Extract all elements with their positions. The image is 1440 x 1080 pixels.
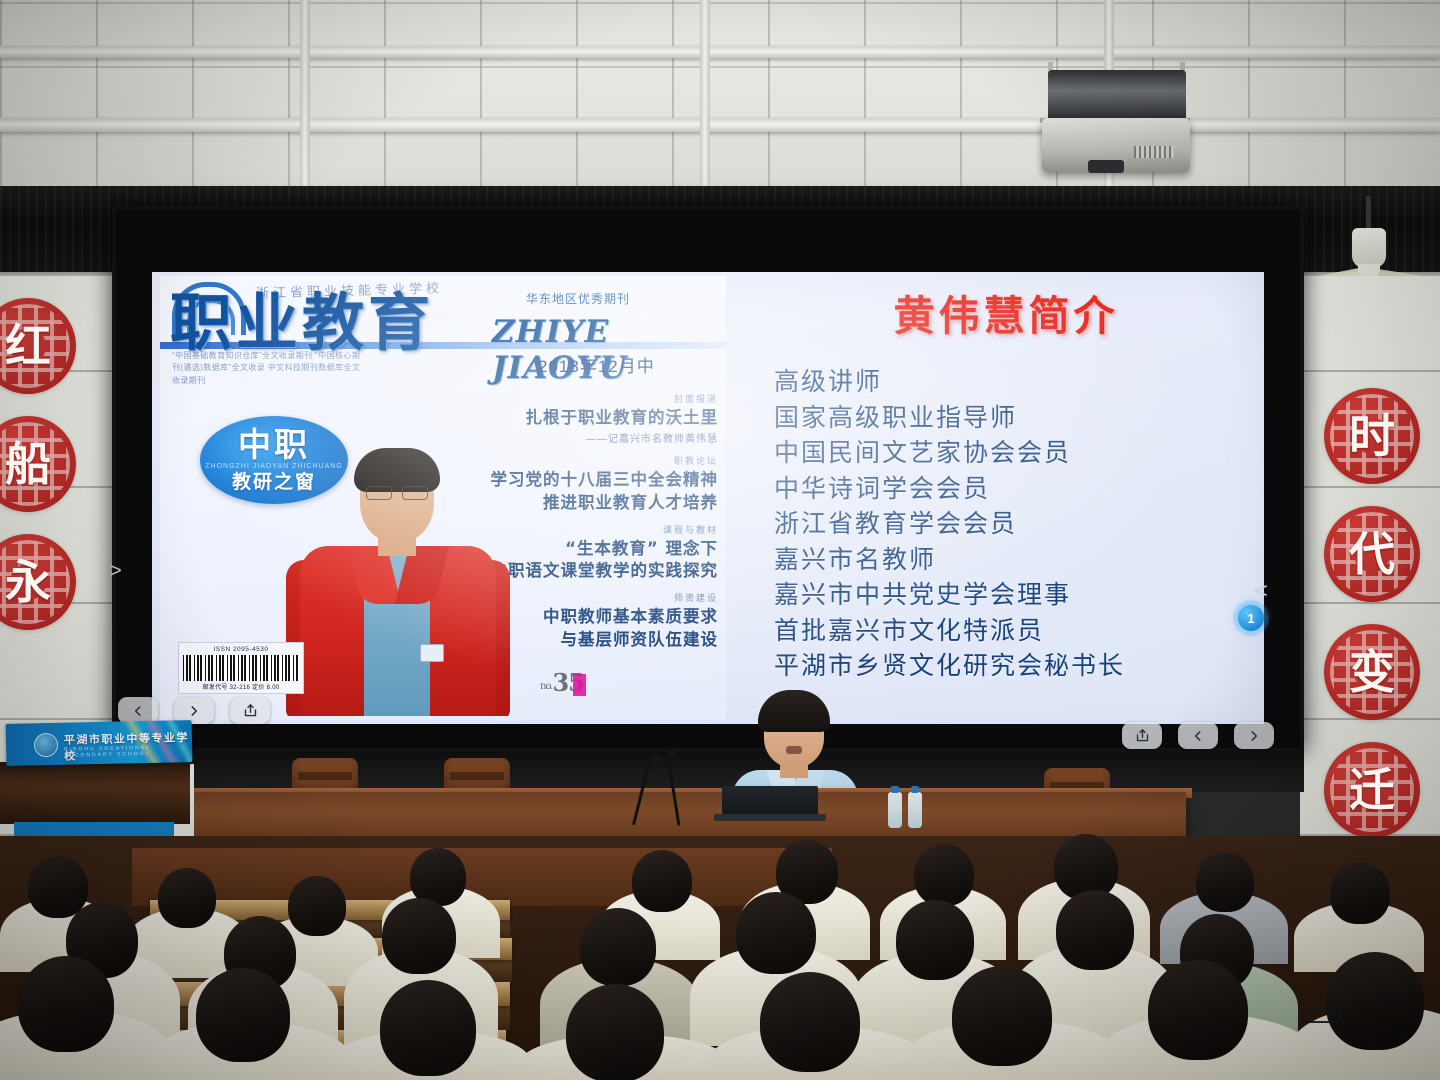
audience-head xyxy=(1330,862,1390,924)
medallion-character: 变 xyxy=(1349,649,1395,695)
audience-head xyxy=(380,980,476,1076)
ceiling-divider xyxy=(700,0,710,196)
water-bottle xyxy=(888,792,902,828)
ceiling-divider xyxy=(300,0,310,196)
medallion-character: 时 xyxy=(1349,413,1395,459)
magazine-article: 封面报道 扎根于职业教育的沃土里 ——记嘉兴市名教师黄伟慧 xyxy=(432,392,718,445)
projected-slide: 浙江省职业技能专业学校 职业教育 ZHIYE JIAOYU 华东地区优秀期刊 2… xyxy=(152,272,1264,724)
portrait-name-badge xyxy=(420,644,444,662)
slide-title: 黄伟慧简介 xyxy=(760,282,1252,342)
audience-head xyxy=(1148,960,1248,1060)
wall-medallion-bian: 变 xyxy=(1324,624,1420,720)
audience-head xyxy=(914,844,974,906)
magazine-cover-image: 浙江省职业技能专业学校 职业教育 ZHIYE JIAOYU 华东地区优秀期刊 2… xyxy=(160,276,726,720)
next-page-button[interactable] xyxy=(1234,722,1274,749)
share-icon[interactable] xyxy=(230,697,270,724)
prev-page-button[interactable] xyxy=(1178,722,1218,749)
audience-head xyxy=(288,876,346,936)
projector-vent xyxy=(1134,146,1174,158)
audience-head xyxy=(736,892,816,974)
bio-item: 平湖市乡贤文化研究会秘书长 xyxy=(774,648,1252,684)
wall-medallion-qian: 迁 xyxy=(1324,742,1420,838)
magazine-title-cn: 职业教育 xyxy=(170,292,510,354)
audience-head xyxy=(18,956,114,1052)
fan-downrod xyxy=(1366,196,1371,232)
portrait-eyes xyxy=(366,486,428,498)
projector-top-plate xyxy=(1048,70,1186,122)
lecture-hall-photo: 红 船 永 时 代 变 迁 浙江省职业技能专业学校 xyxy=(0,0,1440,1080)
audience-head xyxy=(1056,890,1134,970)
water-bottle xyxy=(908,792,922,828)
wall-medallion-shi: 时 xyxy=(1324,388,1420,484)
magazine-cover-portrait xyxy=(278,448,514,716)
medallion-character: 船 xyxy=(5,441,51,487)
bio-item: 嘉兴市名教师 xyxy=(774,542,1252,578)
bio-item: 首批嘉兴市文化特派员 xyxy=(774,613,1252,649)
chevron-right-icon[interactable]: > xyxy=(110,560,122,583)
medallion-character: 红 xyxy=(5,323,51,369)
presenter-mouth xyxy=(786,746,802,754)
chair-back-slot xyxy=(298,772,352,780)
audience-head xyxy=(382,898,456,974)
audience-head xyxy=(1196,852,1254,912)
bio-item: 国家高级职业指导师 xyxy=(774,400,1252,436)
article-subline: ——记嘉兴市名教师黄伟慧 xyxy=(432,430,718,445)
magazine-award-label: 华东地区优秀期刊 xyxy=(526,290,630,307)
audience-head xyxy=(28,856,88,918)
page-number-badge[interactable]: 1 xyxy=(1238,605,1264,631)
right-wall: 时 代 变 迁 xyxy=(1300,276,1440,836)
laptop-base xyxy=(714,814,826,821)
barcode-issn: ISSN 2095-4530 xyxy=(183,646,299,653)
audience-head xyxy=(158,868,216,928)
audience-head xyxy=(566,984,664,1080)
magazine-fineprint: “中国基础教育知识仓库”全文收录期刊 “中国核心期刊(遴选)数据库”全文收录 中… xyxy=(172,350,362,387)
school-logo-icon xyxy=(34,733,58,757)
audience-head xyxy=(196,968,290,1062)
laptop-screen xyxy=(722,786,818,816)
chevron-left-icon[interactable]: < xyxy=(1252,578,1269,602)
article-kicker: 封面报道 xyxy=(432,392,718,405)
audience-head xyxy=(1326,952,1424,1050)
medallion-character: 永 xyxy=(5,559,51,605)
fan-motor-housing xyxy=(1352,228,1386,268)
medallion-character: 迁 xyxy=(1349,767,1395,813)
barcode-bars xyxy=(183,655,299,681)
slide-bio-panel: 黄伟慧简介 高级讲师 国家高级职业指导师 中国民间文艺家协会会员 中华诗词学会会… xyxy=(760,282,1252,700)
bio-item: 浙江省教育学会会员 xyxy=(774,506,1252,542)
share-icon[interactable] xyxy=(1122,722,1162,749)
ceiling-projector xyxy=(1030,62,1200,180)
projector-lens xyxy=(1088,160,1124,173)
chair-back-slot xyxy=(450,772,504,780)
bio-item: 中华诗词学会会员 xyxy=(774,471,1252,507)
bio-item: 中国民间文艺家协会会员 xyxy=(774,435,1252,471)
ceiling-beam xyxy=(0,118,1440,132)
bottle-cap xyxy=(911,786,919,793)
magazine-corner-logo: no.35 xyxy=(540,668,586,697)
audience-head xyxy=(760,972,860,1072)
eyeglasses-icon xyxy=(1302,1008,1340,1023)
bio-item: 嘉兴市中共党史学会理事 xyxy=(774,577,1252,613)
audience-head xyxy=(952,966,1052,1066)
barcode-price-line: 邮发代号 32-216 定价 8.00 xyxy=(183,682,299,691)
microphone-head xyxy=(668,748,677,757)
school-banner: 平湖市职业中等专业学校 PINGHU VOCATIONAL SECONDARY … xyxy=(6,720,193,766)
ceiling xyxy=(0,0,1440,196)
magazine-issue-date: 2013年12月中 xyxy=(538,352,655,377)
article-headline-line1: 扎根于职业教育的沃土里 xyxy=(432,407,718,429)
audience-head xyxy=(896,900,974,980)
bottle-cap xyxy=(891,786,899,793)
slide-bio-list: 高级讲师 国家高级职业指导师 中国民间文艺家协会会员 中华诗词学会会员 浙江省教… xyxy=(760,364,1252,684)
medallion-character: 代 xyxy=(1349,531,1395,577)
lectern-body xyxy=(0,762,190,824)
presenter-hair xyxy=(758,690,830,732)
audience-head xyxy=(632,850,692,912)
ceiling-beam xyxy=(0,46,1440,58)
ceiling-tile-grid xyxy=(0,0,1440,196)
microphone-head xyxy=(652,754,661,763)
wall-medallion-dai: 代 xyxy=(1324,506,1420,602)
magazine-barcode: ISSN 2095-4530 邮发代号 32-216 定价 8.00 xyxy=(178,642,304,694)
audience-head xyxy=(580,908,656,986)
bio-item: 高级讲师 xyxy=(774,364,1252,400)
